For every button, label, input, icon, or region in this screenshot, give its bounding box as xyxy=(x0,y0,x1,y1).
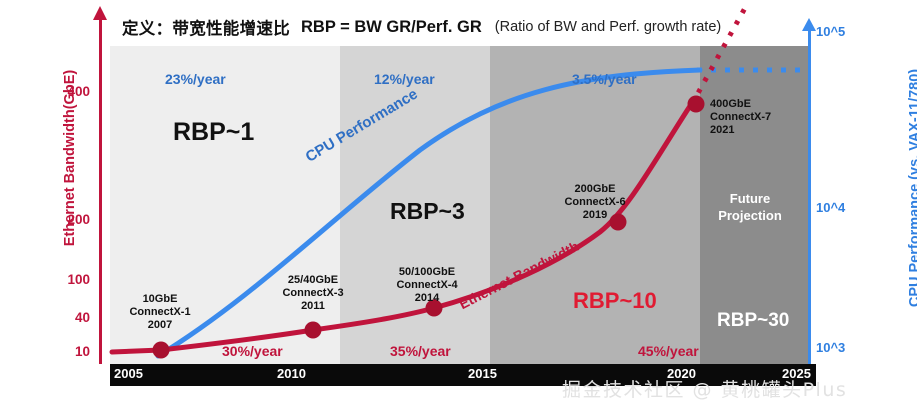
cpu-growth-rate-label: 12%/year xyxy=(374,71,435,87)
y-tick-left: 400 xyxy=(46,84,90,99)
data-point-label: 50/100GbE ConnectX-4 2014 xyxy=(372,266,482,305)
title-formula: RBP = BW GR/Perf. GR xyxy=(301,18,482,37)
chart-root: 定义：带宽性能增速比 RBP = BW GR/Perf. GR (Ratio o… xyxy=(0,0,917,412)
rbp-zone-label-2: RBP~3 xyxy=(390,198,465,225)
y-tick-left: 100 xyxy=(46,272,90,287)
future-projection-label: Future Projection xyxy=(710,190,790,224)
data-point-speed: 10GbE xyxy=(110,293,210,306)
title-paren: (Ratio of BW and Perf. growth rate) xyxy=(495,19,721,35)
data-point-speed: 25/40GbE xyxy=(263,274,363,287)
y-axis-left-title: Ethernet Bandwidth(GbE) xyxy=(62,28,78,288)
y-axis-right-line xyxy=(808,28,811,366)
data-point-label: 25/40GbE ConnectX-3 2011 xyxy=(263,274,363,313)
future-projection-line1: Future xyxy=(710,190,790,207)
data-point-speed: 200GbE xyxy=(545,183,645,196)
data-point-year: 2021 xyxy=(710,124,800,137)
data-point-label: 400GbE ConnectX-7 2021 xyxy=(710,98,800,137)
data-point-year: 2014 xyxy=(372,292,482,305)
rbp-zone-label-3: RBP~10 xyxy=(573,288,657,314)
y-tick-left: 10 xyxy=(46,344,90,359)
data-point-label: 200GbE ConnectX-6 2019 xyxy=(545,183,645,222)
data-point-year: 2011 xyxy=(263,300,363,313)
y-tick-right: 10^5 xyxy=(816,24,845,39)
data-point-year: 2007 xyxy=(110,319,210,332)
rbp-zone-label-1: RBP~1 xyxy=(173,118,254,147)
y-axis-right-title: CPU Performance (vs. VAX-11/780) xyxy=(907,28,917,348)
y-tick-left: 40 xyxy=(46,310,90,325)
data-point-part: ConnectX-3 xyxy=(263,287,363,300)
data-point-part: ConnectX-6 xyxy=(545,196,645,209)
data-point-speed: 400GbE xyxy=(710,98,800,111)
data-point-year: 2019 xyxy=(545,209,645,222)
watermark: 掘金技术社区 @ 黄桃罐头Plus xyxy=(562,375,847,402)
eth-growth-rate-label: 30%/year xyxy=(222,343,283,359)
y-tick-right: 10^3 xyxy=(816,340,845,355)
y-tick-left: 200 xyxy=(46,212,90,227)
eth-growth-rate-label: 45%/year xyxy=(638,343,699,359)
x-tick: 2010 xyxy=(277,366,306,381)
cpu-growth-rate-label: 3.5%/year xyxy=(572,71,637,87)
rbp-zone-label-4: RBP~30 xyxy=(717,310,789,332)
data-point-part: ConnectX-4 xyxy=(372,279,482,292)
data-point-part: ConnectX-1 xyxy=(110,306,210,319)
title-chinese: 定义：带宽性能增速比 xyxy=(122,15,290,39)
y-axis-left-line xyxy=(99,16,102,364)
data-point-label: 10GbE ConnectX-1 2007 xyxy=(110,293,210,332)
cpu-growth-rate-label: 23%/year xyxy=(165,71,226,87)
x-tick: 2015 xyxy=(468,366,497,381)
data-point-speed: 50/100GbE xyxy=(372,266,482,279)
chart-title: 定义：带宽性能增速比 RBP = BW GR/Perf. GR (Ratio o… xyxy=(122,12,822,42)
y-tick-right: 10^4 xyxy=(816,200,845,215)
data-point-part: ConnectX-7 xyxy=(710,111,800,124)
future-projection-line2: Projection xyxy=(710,207,790,224)
eth-growth-rate-label: 35%/year xyxy=(390,343,451,359)
x-tick: 2005 xyxy=(114,366,143,381)
